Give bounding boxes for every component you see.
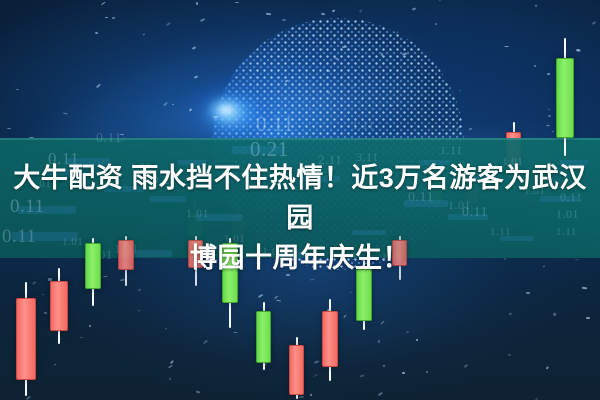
light-burst-core <box>206 96 246 124</box>
headline: 大牛配资 雨水挡不住热情！近3万名游客为武汉园 博园十周年庆生！ <box>0 158 600 278</box>
headline-line-1: 大牛配资 雨水挡不住热情！近3万名游客为武汉园 <box>8 158 592 238</box>
banner-image: 0.110.110.111.011.011.010.110.110.211.11… <box>0 0 600 400</box>
teal-band-top-edge <box>0 138 600 140</box>
headline-line-2: 博园十周年庆生！ <box>8 238 592 278</box>
